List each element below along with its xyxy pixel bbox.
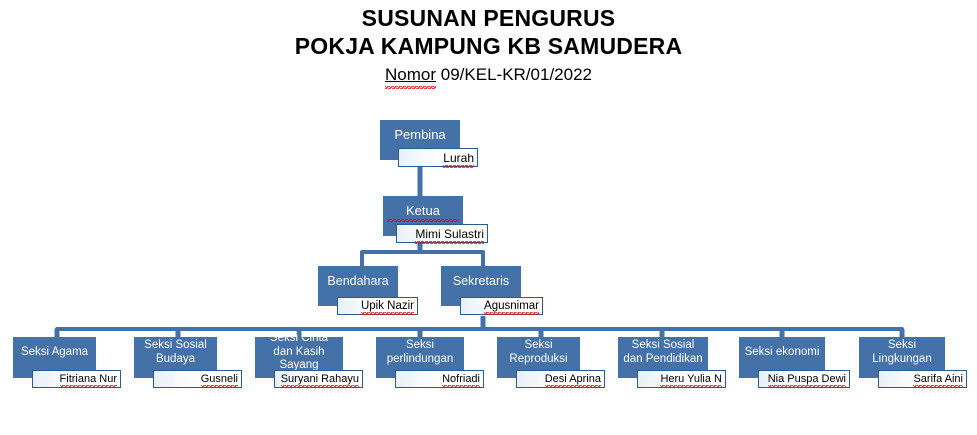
node-seksi-reproduksi[interactable]: Seksi Reproduksi Desi Aprina [497,337,607,392]
node-ketua-name: Mimi Sulastri [415,227,484,241]
node-seksi-sosial-budaya[interactable]: Seksi Sosial Budaya Gusneli [134,337,244,392]
node-bendahara-role: Bendahara [322,274,394,289]
node-seksi-sosial-budaya-name: Gusneli [201,373,238,385]
node-seksi-cinta-kasih-sayang-role: Seksi Cinta dan Kasih Sayang [259,332,339,373]
node-seksi-lingkungan-role: Seksi Lingkungan [863,339,941,366]
node-seksi-reproduksi-name-plate[interactable]: Desi Aprina [516,370,605,388]
node-seksi-sosial-pendidikan[interactable]: Seksi Sosial dan Pendidikan Heru Yulia N [618,337,728,392]
node-seksi-reproduksi-name: Desi Aprina [545,373,601,385]
connector-ketua-to-bendahara [362,252,420,266]
node-seksi-perlindungan[interactable]: Seksi perlindungan Nofriadi [376,337,486,392]
node-seksi-cinta-kasih-sayang-name-plate[interactable]: Suryani Rahayu [274,370,363,388]
connector-bottom-bus [57,329,902,334]
node-seksi-sosial-pendidikan-name: Heru Yulia N [660,373,722,385]
node-seksi-cinta-kasih-sayang-name: Suryani Rahayu [281,373,359,385]
node-sekretaris[interactable]: Sekretaris Agusnimar [441,266,545,318]
node-ketua[interactable]: Ketua Mimi Sulastri [383,196,493,246]
connector-ketua-to-sekretaris [420,252,483,266]
node-seksi-sosial-budaya-role: Seksi Sosial Budaya [138,339,213,366]
node-pembina[interactable]: Pembina Lurah [380,120,480,170]
node-seksi-ekonomi-name-plate[interactable]: Nia Puspa Dewi [758,370,850,388]
node-seksi-cinta-kasih-sayang[interactable]: Seksi Cinta dan Kasih Sayang Suryani Rah… [255,337,365,392]
node-seksi-lingkungan-name: Sarifa Aini [913,373,963,385]
node-seksi-agama-role: Seksi Agama [17,346,92,360]
node-bendahara[interactable]: Bendahara Upik Nazir [318,266,420,318]
node-seksi-agama-name-plate[interactable]: Fitriana Nur [32,370,121,388]
node-pembina-name-plate[interactable]: Lurah [398,148,478,167]
node-seksi-ekonomi[interactable]: Seksi ekonomi Nia Puspa Dewi [739,337,849,392]
node-seksi-agama[interactable]: Seksi Agama Fitriana Nur [13,337,123,392]
node-seksi-perlindungan-name-plate[interactable]: Nofriadi [395,370,484,388]
node-seksi-lingkungan[interactable]: Seksi Lingkungan Sarifa Aini [859,337,969,392]
node-seksi-ekonomi-name: Nia Puspa Dewi [768,373,846,385]
node-seksi-perlindungan-role: Seksi perlindungan [380,339,460,366]
node-pembina-role: Pembina [384,127,456,142]
node-sekretaris-role: Sekretaris [445,274,517,289]
node-sekretaris-name: Agusnimar [484,300,539,312]
node-pembina-name: Lurah [443,151,474,165]
node-ketua-role: Ketua [387,203,459,218]
node-seksi-sosial-budaya-name-plate[interactable]: Gusneli [153,370,242,388]
node-bendahara-name: Upik Nazir [361,300,414,312]
node-sekretaris-name-plate[interactable]: Agusnimar [460,297,543,315]
node-seksi-ekonomi-role: Seksi ekonomi [743,346,821,360]
node-seksi-sosial-pendidikan-role: Seksi Sosial dan Pendidikan [622,339,704,366]
org-chart: Pembina Lurah Ketua Mimi Sulastri Bendah… [0,0,977,435]
node-seksi-agama-name: Fitriana Nur [60,373,117,385]
node-ketua-name-plate[interactable]: Mimi Sulastri [396,224,488,243]
node-seksi-reproduksi-role: Seksi Reproduksi [501,339,576,366]
node-seksi-perlindungan-name: Nofriadi [442,373,480,385]
node-seksi-lingkungan-name-plate[interactable]: Sarifa Aini [878,370,967,388]
node-seksi-sosial-pendidikan-name-plate[interactable]: Heru Yulia N [637,370,726,388]
node-bendahara-name-plate[interactable]: Upik Nazir [337,297,418,315]
